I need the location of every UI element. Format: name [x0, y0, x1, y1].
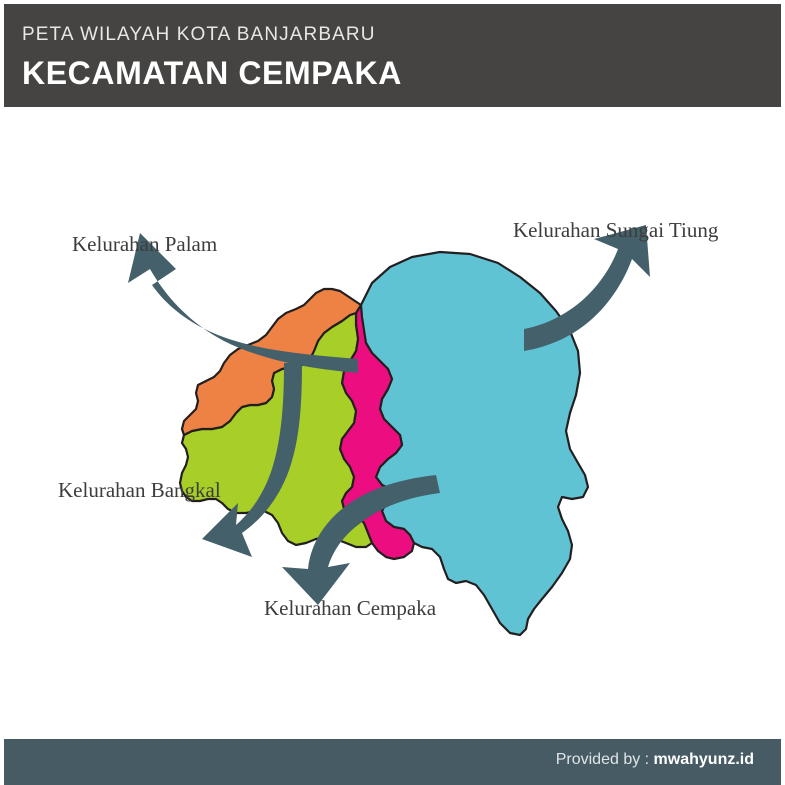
map-illustration: Kelurahan Palam Kelurahan Sungai Tiung K… — [0, 107, 785, 739]
label-kelurahan-sungai-tiung: Kelurahan Sungai Tiung — [513, 218, 719, 242]
header-bar: PETA WILAYAH KOTA BANJARBARU KECAMATAN C… — [4, 4, 781, 107]
label-kelurahan-bangkal: Kelurahan Bangkal — [58, 478, 221, 502]
map-stage: Kelurahan Palam Kelurahan Sungai Tiung K… — [0, 107, 785, 739]
label-kelurahan-cempaka: Kelurahan Cempaka — [264, 596, 437, 620]
footer-credit-prefix: Provided by : — [556, 751, 654, 768]
label-kelurahan-palam: Kelurahan Palam — [72, 232, 217, 256]
footer-bar: Provided by : mwahyunz.id — [4, 739, 781, 785]
footer-credit-brand: mwahyunz.id — [654, 751, 754, 768]
arrow-sungai-tiung — [524, 225, 650, 351]
footer-credit: Provided by : mwahyunz.id — [556, 751, 754, 769]
infographic-canvas: PETA WILAYAH KOTA BANJARBARU KECAMATAN C… — [0, 0, 785, 785]
page-title: KECAMATAN CEMPAKA — [22, 52, 781, 94]
header-subtitle: PETA WILAYAH KOTA BANJARBARU — [22, 22, 781, 48]
